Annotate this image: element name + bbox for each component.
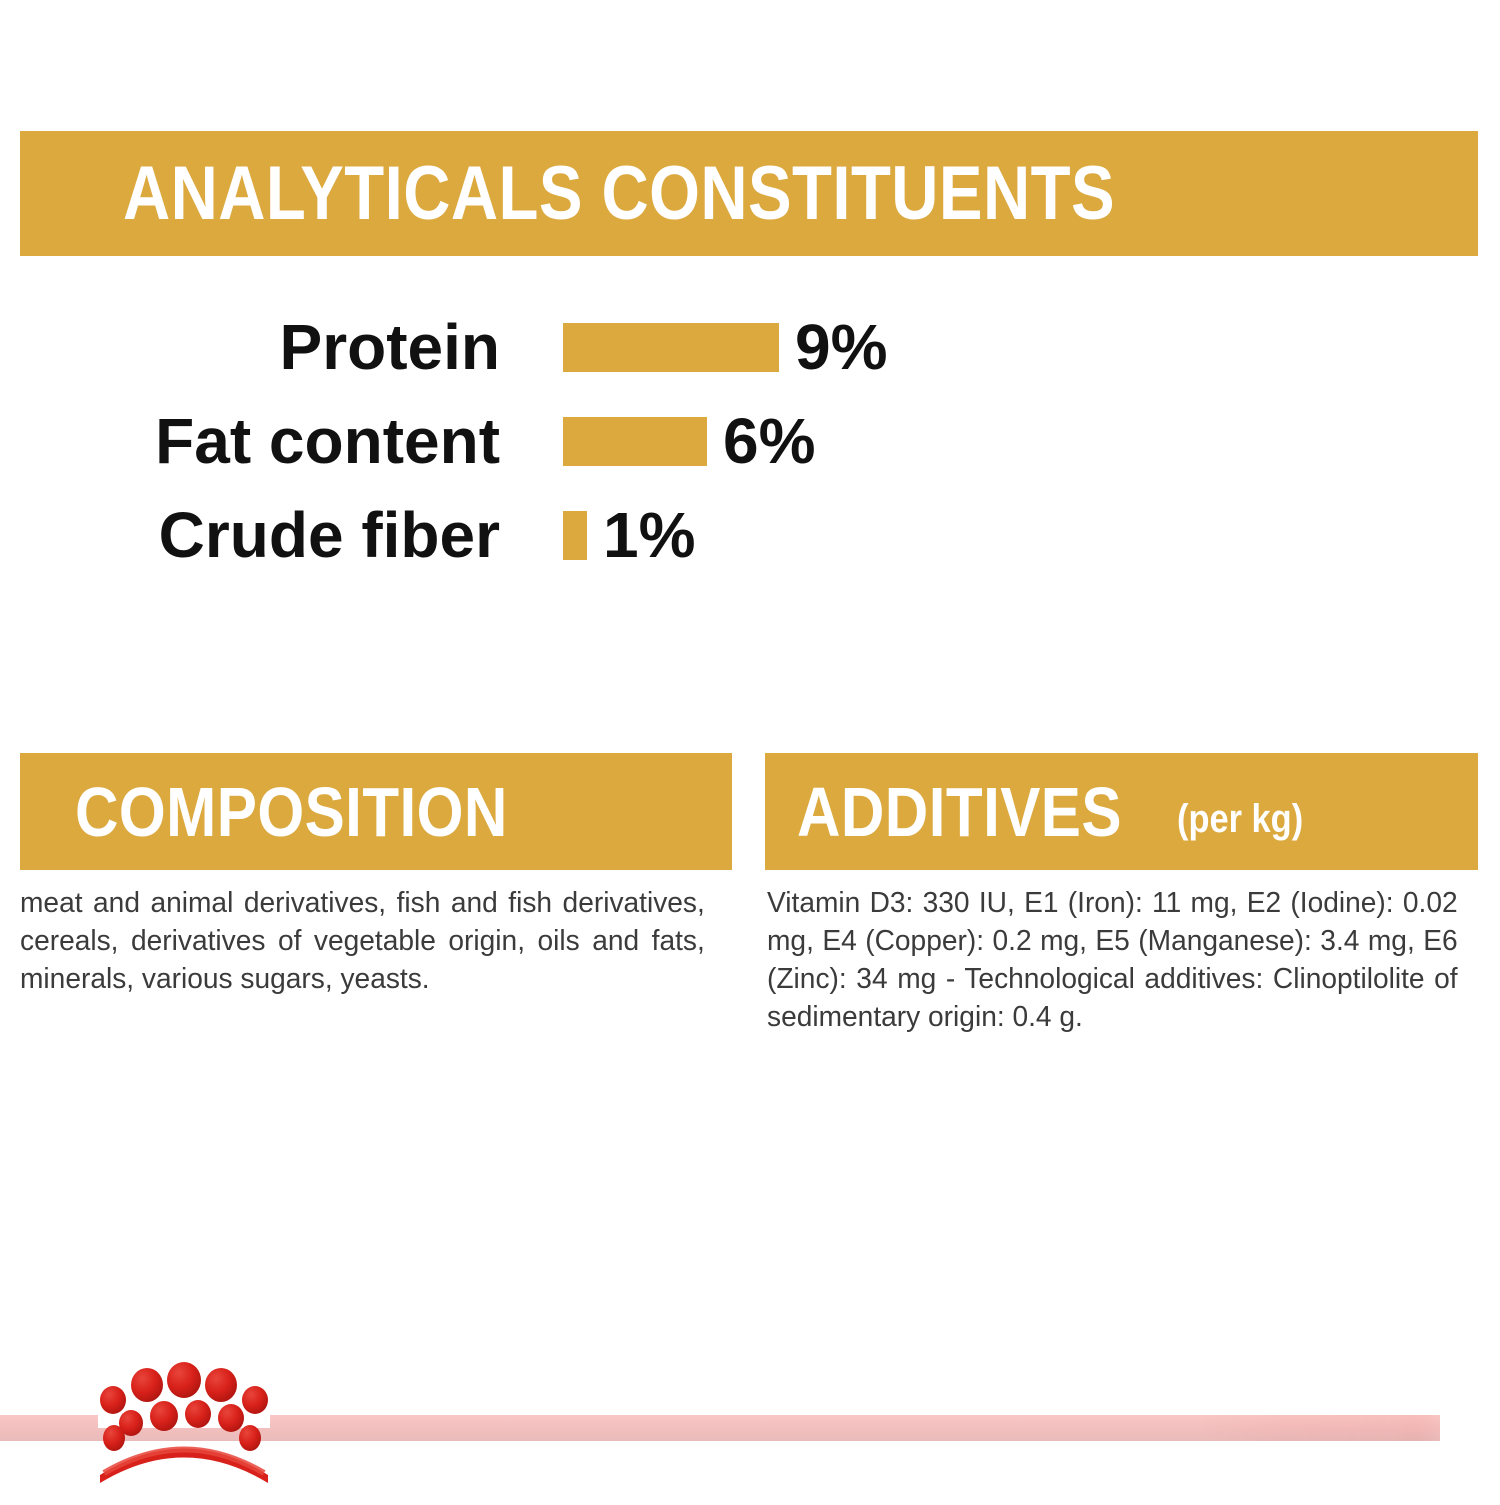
chart-bar-fat-content <box>563 417 707 466</box>
chart-bar-wrap-protein: 9% <box>563 315 888 379</box>
additives-banner: ADDITIVES (per kg) <box>765 753 1478 870</box>
analyticals-constituents-title: ANALYTICALS CONSTITUENTS <box>123 156 1115 232</box>
chart-value-protein: 9% <box>795 315 888 379</box>
chart-row-protein: Protein 9% <box>0 300 1000 394</box>
chart-bar-protein <box>563 323 779 372</box>
additives-per-kg-label: (per kg) <box>1177 799 1303 839</box>
chart-value-crude-fiber: 1% <box>603 503 696 567</box>
chart-row-crude-fiber: Crude fiber 1% <box>0 488 1000 582</box>
composition-banner: COMPOSITION <box>20 753 732 870</box>
chart-label-crude-fiber: Crude fiber <box>0 503 500 567</box>
chart-label-protein: Protein <box>0 315 500 379</box>
constituents-bar-chart: Protein 9% Fat content 6% Crude fiber 1% <box>0 300 1000 582</box>
additives-title: ADDITIVES <box>797 777 1122 847</box>
composition-ingredients-text: meat and animal derivatives, fish and fi… <box>20 884 705 998</box>
analyticals-constituents-banner: ANALYTICALS CONSTITUENTS <box>20 131 1478 256</box>
chart-bar-wrap-crude-fiber: 1% <box>563 503 696 567</box>
royal-canin-crown-icon <box>0 1340 1500 1500</box>
chart-bar-wrap-fat-content: 6% <box>563 409 816 473</box>
chart-label-fat-content: Fat content <box>0 409 500 473</box>
nutrition-panel: ANALYTICALS CONSTITUENTS Protein 9% Fat … <box>0 0 1500 1500</box>
crown-arc <box>100 1449 268 1484</box>
composition-title: COMPOSITION <box>75 777 508 847</box>
chart-value-fat-content: 6% <box>723 409 816 473</box>
chart-bar-crude-fiber <box>563 511 587 560</box>
chart-row-fat-content: Fat content 6% <box>0 394 1000 488</box>
royal-canin-logo <box>0 1340 1500 1500</box>
additives-list-text: Vitamin D3: 330 IU, E1 (Iron): 11 mg, E2… <box>767 884 1458 1036</box>
